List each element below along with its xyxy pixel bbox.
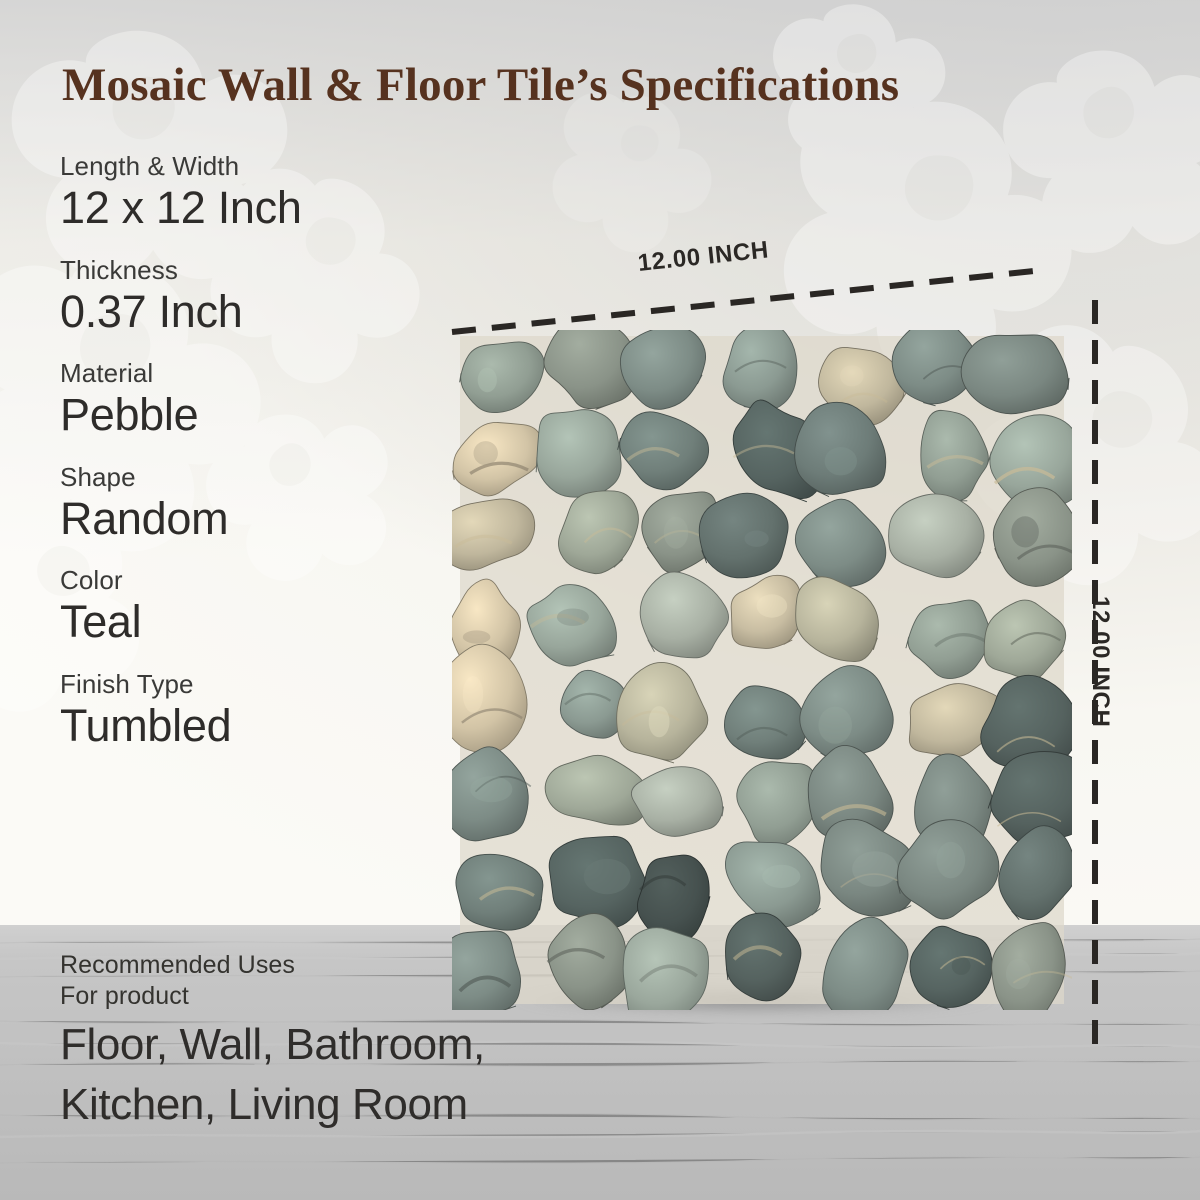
pebble — [623, 928, 708, 1010]
pebble-mottle — [852, 851, 898, 887]
spec-label: Length & Width — [60, 152, 460, 181]
spec-label: Shape — [60, 463, 460, 492]
pebble-mottle — [463, 630, 491, 643]
pebble-mottle — [936, 842, 965, 879]
spec-row-material: Material Pebble — [60, 359, 460, 441]
spec-row-color: Color Teal — [60, 566, 460, 648]
spec-row-thickness: Thickness 0.37 Inch — [60, 256, 460, 338]
dimension-top: 12.00 INCH — [448, 252, 1048, 342]
spec-row-shape: Shape Random — [60, 463, 460, 545]
spec-label: Color — [60, 566, 460, 595]
spec-value: Tumbled — [60, 701, 460, 751]
spec-value: 0.37 Inch — [60, 287, 460, 337]
pebble — [536, 410, 621, 498]
pebble — [699, 493, 788, 578]
pebble-mottle — [664, 517, 688, 549]
pebble-mottle — [584, 859, 631, 894]
pebble-mottle — [825, 447, 857, 475]
pebble-mottle — [818, 707, 852, 744]
recommended-uses-value-line1: Floor, Wall, Bathroom, — [60, 1018, 660, 1072]
pebble-mottle — [470, 776, 512, 802]
spec-value: Pebble — [60, 390, 460, 440]
page-title: Mosaic Wall & Floor Tile’s Specification… — [62, 58, 1132, 112]
pebble — [723, 330, 797, 410]
pebble-mosaic-svg — [452, 330, 1072, 1010]
pebble-mottle — [757, 594, 788, 617]
pebble-mottle — [1011, 516, 1039, 547]
spec-label: Thickness — [60, 256, 460, 285]
spec-row-finish-type: Finish Type Tumbled — [60, 670, 460, 752]
spec-label: Finish Type — [60, 670, 460, 699]
pebble-mottle — [952, 957, 971, 975]
spec-value: 12 x 12 Inch — [60, 183, 460, 233]
pebble-mottle — [649, 706, 670, 737]
pebble-mottle — [557, 609, 589, 626]
pebble-mottle — [762, 865, 800, 888]
pebble-mottle — [463, 676, 483, 713]
pebble-mottle — [478, 368, 497, 393]
pebble-mottle — [745, 531, 769, 547]
pebble-mottle — [1006, 959, 1031, 989]
pebble-mottle — [474, 441, 498, 465]
spec-value: Teal — [60, 597, 460, 647]
spec-row-length-width: Length & Width 12 x 12 Inch — [60, 152, 460, 234]
dimension-right-label: 12.00 INCH — [1086, 596, 1114, 727]
dimension-right: 12.00 INCH — [1070, 296, 1190, 1056]
spec-value: Random — [60, 494, 460, 544]
pebble-mosaic-tile-image — [452, 330, 1072, 1010]
spec-label: Material — [60, 359, 460, 388]
spec-infographic: Mosaic Wall & Floor Tile’s Specification… — [0, 0, 1200, 1200]
pebble — [452, 931, 521, 1010]
pebble-mottle — [840, 365, 864, 386]
specifications-list: Length & Width 12 x 12 Inch Thickness 0.… — [60, 152, 460, 773]
recommended-uses-value-line2: Kitchen, Living Room — [60, 1078, 660, 1132]
